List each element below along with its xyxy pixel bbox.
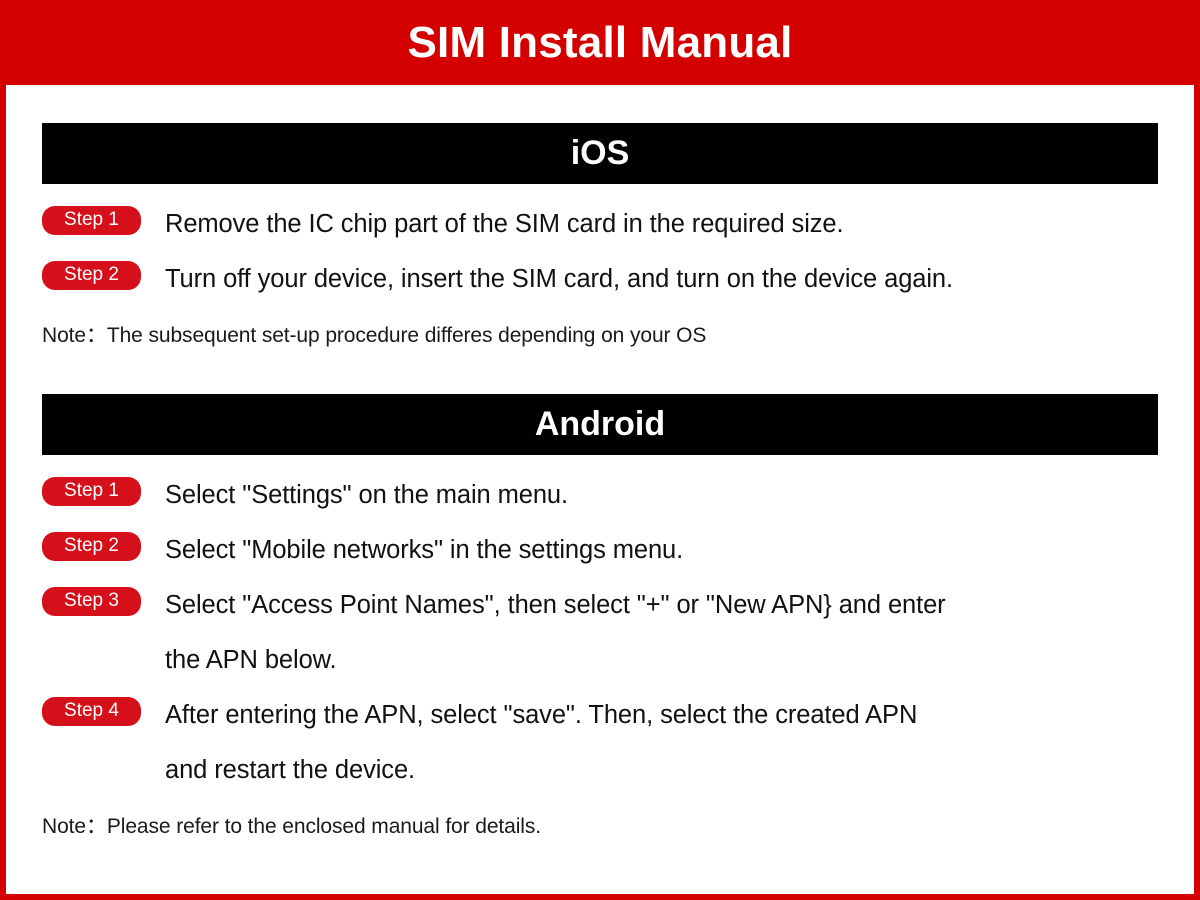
step-badge: Step 2 [42, 532, 141, 561]
note-text: The subsequent set-up procedure differes… [107, 324, 706, 347]
step-badge: Step 1 [42, 206, 141, 235]
step-list-android: Step 1Select "Settings" on the main menu… [42, 471, 1158, 794]
step-text: After entering the APN, select "save". T… [165, 691, 1158, 739]
page-title: SIM Install Manual [408, 21, 793, 65]
step-row: Step 1Remove the IC chip part of the SIM… [42, 200, 1158, 248]
note-label: Note [42, 815, 86, 838]
section-note-android: Note：Please refer to the enclosed manual… [42, 814, 1158, 839]
step-badge: Step 3 [42, 587, 141, 616]
step-badge: Step 2 [42, 261, 141, 290]
section-note-ios: Note：The subsequent set-up procedure dif… [42, 323, 1158, 348]
step-text: Select "Mobile networks" in the settings… [165, 526, 1158, 574]
note-separator: ： [86, 324, 107, 347]
step-row: Step 2Select "Mobile networks" in the se… [42, 526, 1158, 574]
step-row: Step 4After entering the APN, select "sa… [42, 691, 1158, 739]
step-text: Turn off your device, insert the SIM car… [165, 255, 1158, 303]
step-row: Step 1Select "Settings" on the main menu… [42, 471, 1158, 519]
step-text: Remove the IC chip part of the SIM card … [165, 200, 1158, 248]
manual-page: SIM Install Manual iOSStep 1Remove the I… [0, 0, 1200, 900]
step-row: Step 3Select "Access Point Names", then … [42, 581, 1158, 629]
note-separator: ： [86, 815, 107, 838]
step-list-ios: Step 1Remove the IC chip part of the SIM… [42, 200, 1158, 303]
step-text: the APN below. [165, 636, 1158, 684]
step-badge: Step 1 [42, 477, 141, 506]
step-row-continuation: the APN below. [42, 636, 1158, 684]
title-band: SIM Install Manual [0, 0, 1200, 85]
step-text: Select "Access Point Names", then select… [165, 581, 1158, 629]
section-bar-ios: iOS [42, 123, 1158, 184]
step-badge: Step 4 [42, 697, 141, 726]
section-ios: iOSStep 1Remove the IC chip part of the … [42, 123, 1158, 348]
step-row: Step 2Turn off your device, insert the S… [42, 255, 1158, 303]
step-text: Select "Settings" on the main menu. [165, 471, 1158, 519]
section-android: AndroidStep 1Select "Settings" on the ma… [42, 394, 1158, 839]
step-row-continuation: and restart the device. [42, 746, 1158, 794]
note-text: Please refer to the enclosed manual for … [107, 815, 541, 838]
manual-content: iOSStep 1Remove the IC chip part of the … [6, 85, 1194, 894]
step-text: and restart the device. [165, 746, 1158, 794]
note-label: Note [42, 324, 86, 347]
section-bar-android: Android [42, 394, 1158, 455]
